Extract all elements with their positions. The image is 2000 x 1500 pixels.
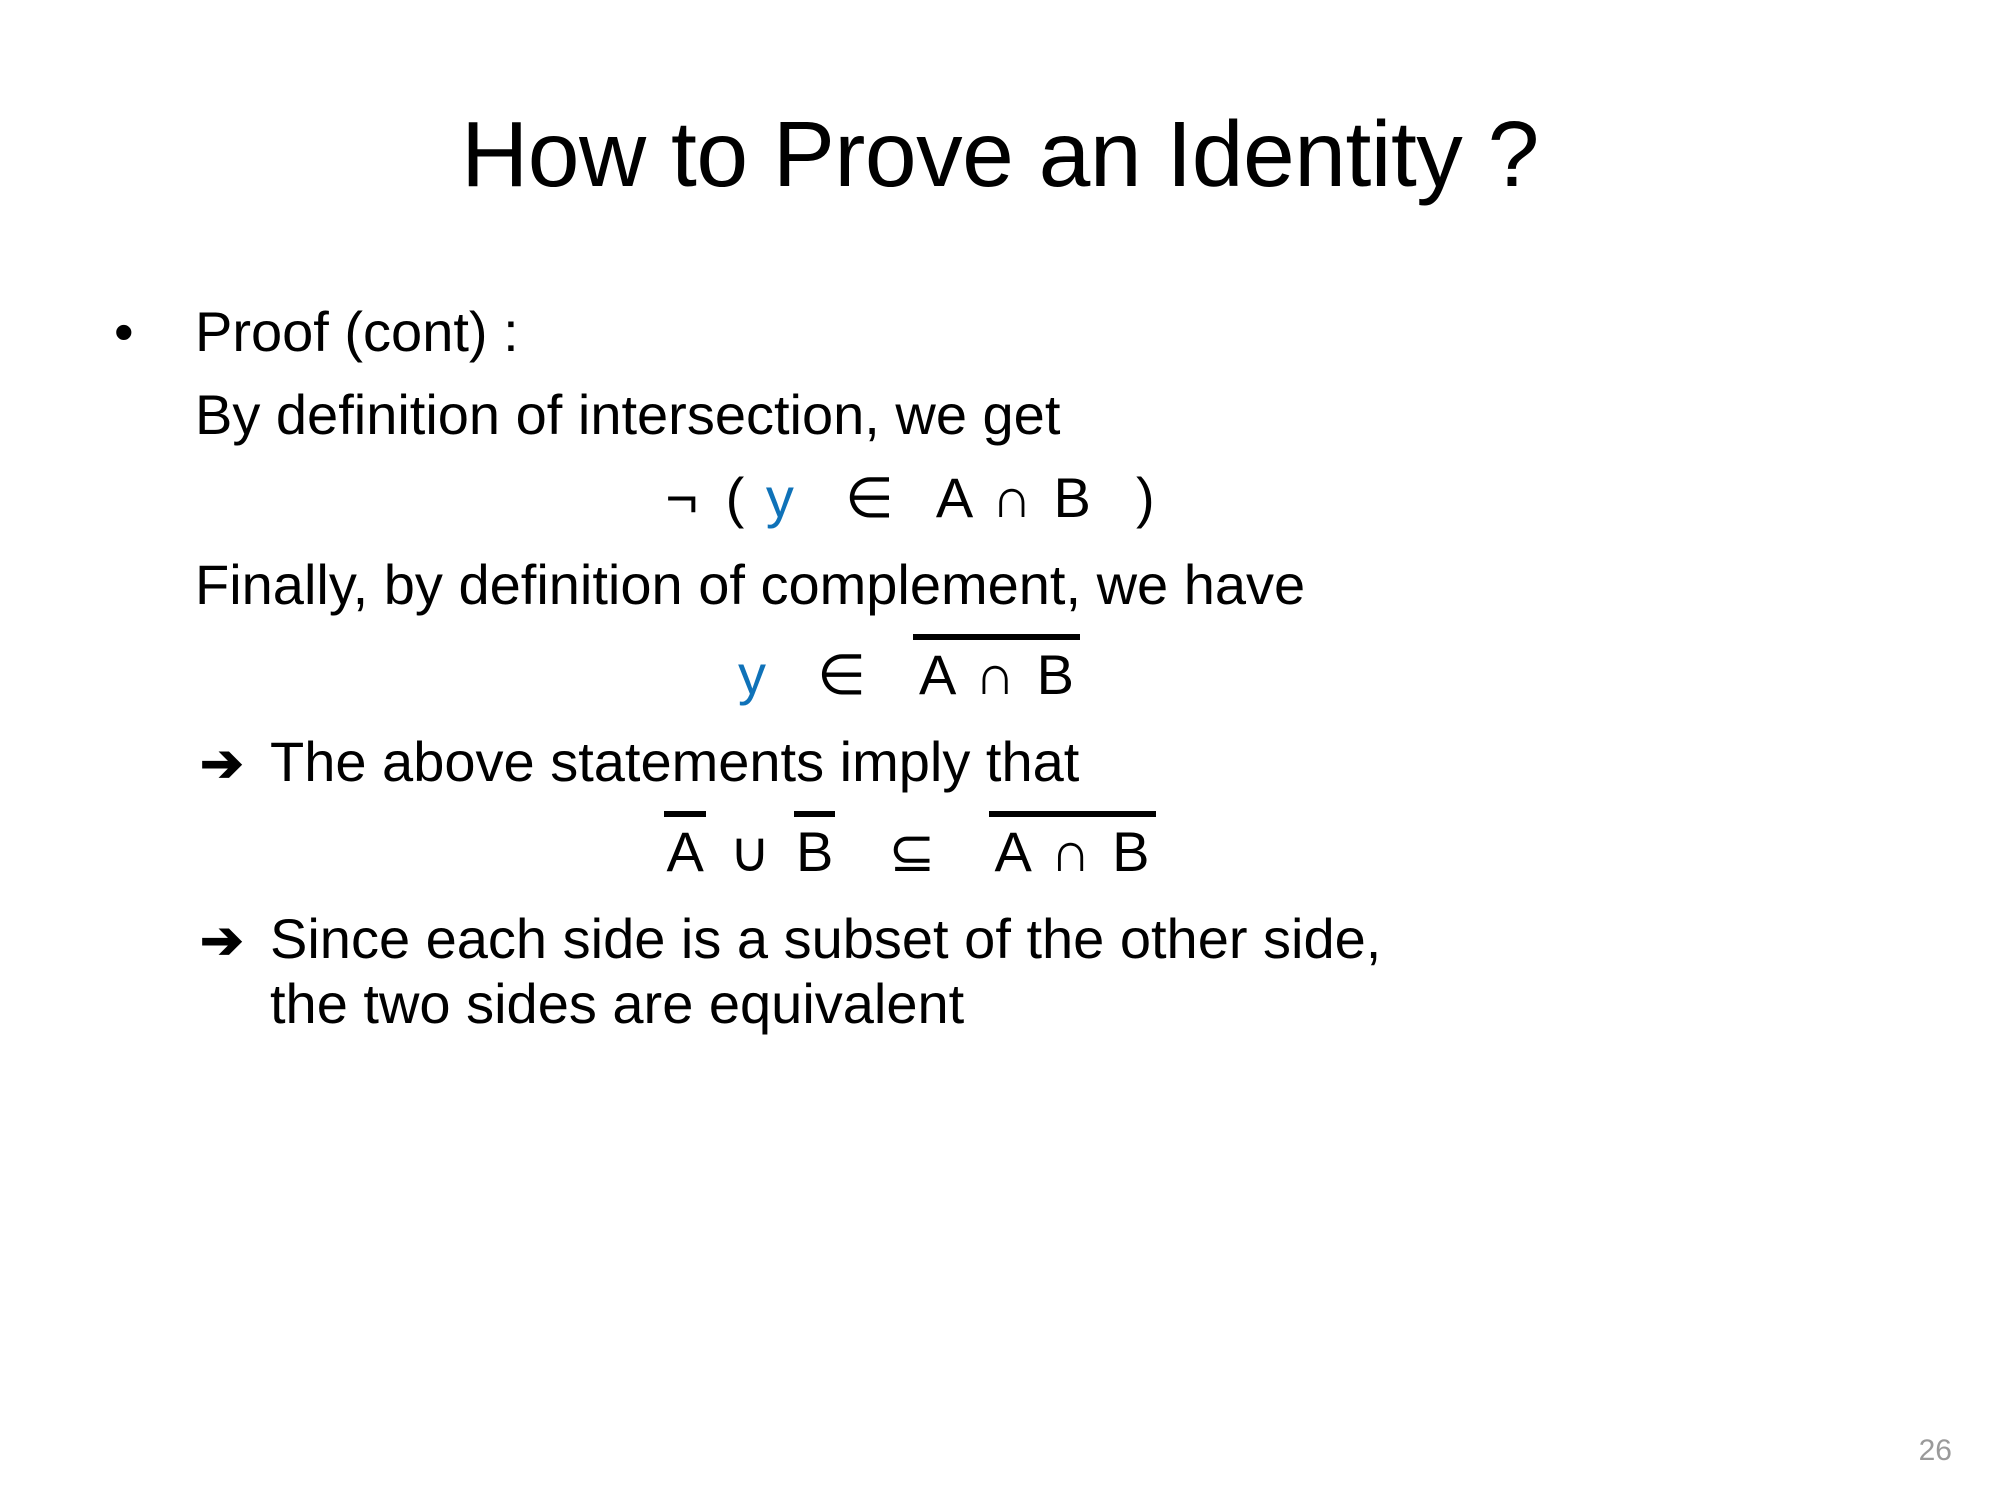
close-paren: ) [1130,464,1161,531]
paragraph-intersection-text: By definition of intersection, we get [195,383,1060,446]
paragraph-complement: Finally, by definition of complement, we… [100,553,1900,618]
page-number: 26 [1919,1436,1952,1466]
set-b: B [1112,820,1149,883]
set-a: A [936,466,970,529]
formula-subset-relation: A ∪ B ⊆ A ∩ B [100,811,1900,885]
variable-y: y [738,643,766,706]
element-of-symbol: ∈ [839,464,900,531]
set-b: B [1037,643,1074,706]
set-a: A [919,643,953,706]
page-title: How to Prove an Identity ? [0,108,2000,201]
complement-overbar-group: A ∩ B [913,634,1080,705]
right-arrow-icon: ➔ [200,911,244,971]
arrow-item-implication-label: The above statements imply that [270,730,1079,793]
variable-y: y [766,466,794,529]
intersection-symbol: ∩ [969,646,1021,705]
set-b: B [796,820,833,883]
bullet-item-proof-label: Proof (cont) : [195,300,519,363]
complement-a-intersect-b-overbar: A ∩ B [989,811,1156,882]
formula-y-in-complement-a-intersect-b: y ∈ A ∩ B [100,634,1900,708]
arrow-item-conclusion-line-1: Since each side is a subset of the other… [270,907,1900,972]
slide: How to Prove an Identity ? • Proof (cont… [0,0,2000,1500]
union-symbol: ∪ [723,818,776,885]
intersection-symbol: ∩ [986,464,1038,531]
bullet-dot-icon: • [114,300,134,365]
open-paren: ( [720,464,751,531]
slide-body: • Proof (cont) : By definition of inters… [100,300,1900,1049]
set-a: A [666,820,703,883]
paragraph-complement-text: Finally, by definition of complement, we… [195,553,1305,616]
complement-b-overbar: B [794,811,835,882]
arrow-item-conclusion: ➔ Since each side is a subset of the oth… [100,907,1900,1037]
subset-or-equal-symbol: ⊆ [882,818,941,885]
right-arrow-icon: ➔ [200,734,244,794]
formula-not-y-in-a-intersect-b: ¬ ( y ∈ A ∩ B ) [100,464,1900,531]
intersection-symbol: ∩ [1044,823,1096,882]
arrow-item-conclusion-line-2: the two sides are equivalent [270,972,1900,1037]
set-a: A [995,820,1029,883]
element-of-symbol: ∈ [811,641,872,708]
complement-a-overbar: A [664,811,705,882]
arrow-item-implication: ➔ The above statements imply that [100,730,1900,795]
paragraph-intersection: By definition of intersection, we get [100,383,1900,448]
negation-symbol: ¬ [659,464,704,531]
bullet-item-proof: • Proof (cont) : [100,300,1900,365]
set-b: B [1053,466,1090,529]
